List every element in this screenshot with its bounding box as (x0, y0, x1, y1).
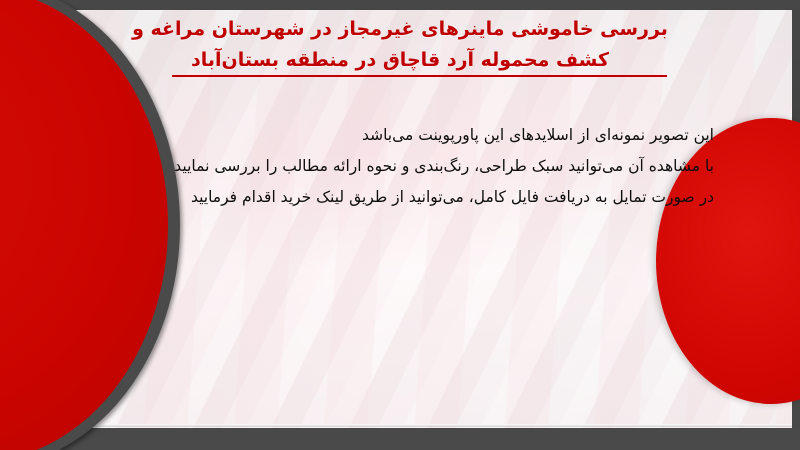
slide-body-text: این تصویر نمونه‌ای از اسلایدهای این پاور… (104, 120, 714, 213)
slide-title-line-2: کشف محموله آرد قاچاق در منطقه بستان‌آباد (40, 45, 760, 76)
slide-title: بررسی خاموشی ماینرهای غیرمجاز در شهرستان… (40, 14, 760, 76)
body-line-3: در صورت تمایل به دریافت فایل کامل، می‌تو… (104, 182, 714, 213)
panel-bottom-edge (36, 424, 792, 427)
slide-title-line-1: بررسی خاموشی ماینرهای غیرمجاز در شهرستان… (40, 14, 760, 45)
body-line-1: این تصویر نمونه‌ای از اسلایدهای این پاور… (104, 120, 714, 151)
title-underline-rule (172, 75, 667, 77)
presentation-slide: بررسی خاموشی ماینرهای غیرمجاز در شهرستان… (0, 0, 800, 450)
body-line-2: با مشاهده آن می‌توانید سبک طراحی، رنگ‌بن… (104, 151, 714, 182)
